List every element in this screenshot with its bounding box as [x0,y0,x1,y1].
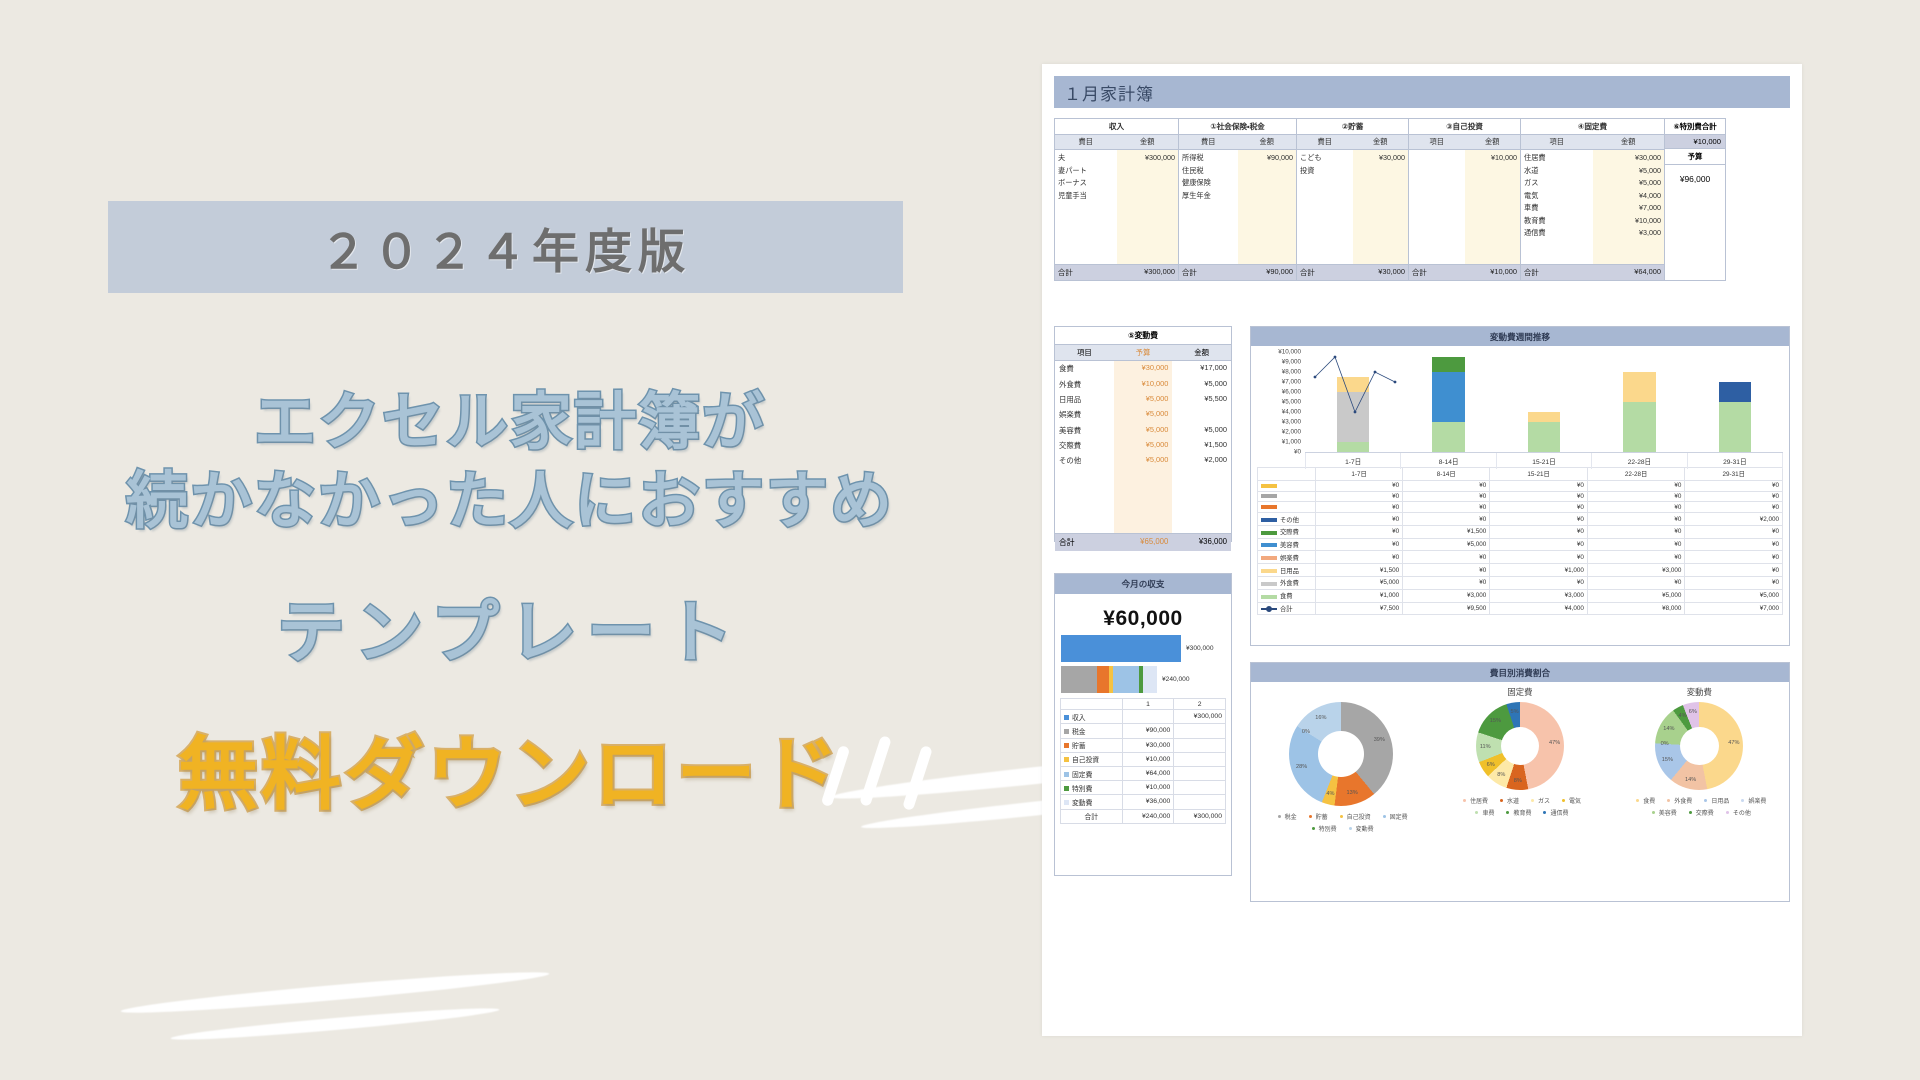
weekly-cell: ¥0 [1316,551,1403,564]
legend-dot-icon [1741,799,1744,802]
income-bar-row: ¥300,000 [1055,635,1231,662]
variable-item: 日用品 [1055,392,1114,407]
variable-budget: ¥5,000 [1114,423,1173,438]
budget-row-amount: ¥300,000 [1120,152,1176,165]
weekly-cell: ¥1,500 [1403,525,1490,538]
budget-table: ④固定費項目金額住居費水道ガス電気車費教育費通信費¥30,000¥5,000¥5… [1520,118,1664,281]
donut-legend-item: その他 [1722,808,1751,817]
workbook-title-label: １月家計簿 [1064,80,1154,105]
weekly-cell: ¥0 [1490,480,1588,491]
weekly-cell: ¥0 [1403,551,1490,564]
weekly-trend-title: 変動費週間推移 [1251,327,1789,346]
x-tick-label: 8-14日 [1401,453,1496,469]
y-tick-label: ¥6,000 [1282,389,1301,396]
budget-row-item: 所得税 [1182,152,1235,165]
weekly-cell: ¥5,000 [1316,577,1403,590]
budget-total-label: 合計 [1409,265,1465,280]
donut-legend-item: 特別費 [1308,824,1337,833]
donut-slice-label: 4% [1326,791,1334,797]
budget-total-label: 合計 [1055,265,1117,280]
donut-slice-label: 39% [1374,737,1385,743]
weekly-cell: ¥0 [1316,513,1403,526]
weekly-trend-card: 変動費週間推移 ¥0¥1,000¥2,000¥3,000¥4,000¥5,000… [1250,326,1790,646]
weekly-cell: ¥0 [1490,491,1588,502]
promo-panel: ２０２４年度版 エクセル家計簿が 続かなかった人におすすめ テンプレート 無料ダ… [0,0,1020,1080]
variable-amount: ¥1,500 [1172,438,1231,453]
legend-swatch-icon [1064,715,1069,720]
donut-legend-item: 車費 [1471,808,1494,817]
weekly-row-label [1258,502,1316,513]
donut-legend-item: 水道 [1496,796,1519,805]
balance-row-c2 [1174,781,1226,795]
weekly-cell: ¥0 [1587,502,1685,513]
weekly-y-axis: ¥0¥1,000¥2,000¥3,000¥4,000¥5,000¥6,000¥7… [1257,352,1303,452]
variable-budget: ¥10,000 [1114,376,1173,391]
legend-dot-icon [1383,815,1386,818]
y-tick-label: ¥7,000 [1282,379,1301,386]
legend-dot-icon [1278,815,1281,818]
weekly-cell: ¥0 [1685,538,1783,551]
budget-row-item: 教育費 [1524,215,1590,228]
balance-row-label: 変動費 [1061,795,1123,809]
weekly-cell: ¥0 [1403,480,1490,491]
col-header-amount: 金額 [1238,135,1297,149]
weekly-bars [1305,352,1783,452]
donut-legend-item: 通信費 [1539,808,1568,817]
legend-swatch-icon [1261,595,1277,599]
y-tick-label: ¥9,000 [1282,359,1301,366]
col-header-item: 項目 [1409,135,1465,149]
balance-row-c2: ¥300,000 [1174,710,1226,724]
budget-row-item: 投資 [1300,165,1350,178]
balance-row-label: 税金 [1061,724,1123,738]
weekly-cell: ¥1,000 [1316,589,1403,602]
budget-total-value: ¥30,000 [1353,265,1409,280]
expense-bar-segment [1061,666,1097,693]
legend-dot-icon [1340,815,1343,818]
donut-hole [1501,727,1540,766]
decor-brush-icon [170,1004,500,1045]
col-header-item: 費目 [1179,135,1238,149]
legend-dot-icon [1652,811,1655,814]
balance-row-label: 自己投資 [1061,752,1123,766]
category-share-title: 費目別消費割合 [1251,663,1789,682]
budget-row-item: こども [1300,152,1350,165]
variable-item: 美容費 [1055,423,1114,438]
weekly-bar-segment [1623,402,1656,452]
variable-row: 交際費¥5,000¥1,500 [1055,438,1231,453]
y-tick-label: ¥8,000 [1282,369,1301,376]
weekly-cell: ¥0 [1403,513,1490,526]
weekly-cell: ¥0 [1403,564,1490,577]
budget-row-item: 通信費 [1524,227,1590,240]
x-tick-label: 29-31日 [1688,453,1783,469]
weekly-cell: ¥0 [1587,538,1685,551]
balance-row-c2 [1174,724,1226,738]
variable-row: 娯楽費¥5,000 [1055,407,1231,422]
weekly-col-header: 1-7日 [1316,468,1403,481]
weekly-row-label [1258,480,1316,491]
weekly-bar-segment [1719,382,1752,402]
donut-legend-item: 固定費 [1379,812,1408,821]
weekly-cell: ¥0 [1316,480,1403,491]
monthly-balance-panel: 今月の収支 ¥60,000 ¥300,000 ¥240,000 12収入¥300… [1054,573,1232,876]
balance-row: 変動費¥36,000 [1061,795,1226,809]
donut-slice-label: 13% [1347,790,1358,796]
variable-row: 美容費¥5,000¥5,000 [1055,423,1231,438]
budget-row-item: ガス [1524,177,1590,190]
donut-slice-label: 28% [1296,764,1307,770]
variable-total-amount: ¥36,000 [1172,534,1231,551]
weekly-bar-segment [1337,377,1370,392]
variable-amount: ¥5,500 [1172,392,1231,407]
weekly-cell: ¥0 [1685,491,1783,502]
legend-swatch-icon [1064,786,1069,791]
weekly-col-header: 22-28日 [1587,468,1685,481]
weekly-row-label: 食費 [1258,589,1316,602]
weekly-data-row: ¥0¥0¥0¥0¥0 [1258,491,1783,502]
budget-total-value: ¥64,000 [1593,265,1665,280]
budget-row-item: 住民税 [1182,165,1235,178]
budget-row-amount: ¥5,000 [1596,177,1662,190]
budget-table-header: ④固定費 [1521,119,1664,135]
weekly-bar-column [1496,352,1592,452]
variable-item: その他 [1055,453,1114,468]
weekly-cell: ¥0 [1403,577,1490,590]
weekly-trend-plot: ¥0¥1,000¥2,000¥3,000¥4,000¥5,000¥6,000¥7… [1257,352,1783,465]
expense-bar [1061,666,1157,693]
variable-row: 外食費¥10,000¥5,000 [1055,376,1231,391]
weekly-row-label [1258,491,1316,502]
donut-slice-label: 11% [1480,744,1491,750]
donut-ring: 47%14%15%0%14%4%6% [1655,702,1743,790]
balance-row-c1: ¥64,000 [1122,766,1174,780]
donut-title: 固定費 [1507,686,1532,702]
legend-dot-icon [1636,799,1639,802]
headline-line-2: 続かなかった人におすすめ [0,450,1020,540]
budget-row-item: 厚生年金 [1182,190,1235,203]
legend-swatch-icon [1261,518,1277,522]
budget-table-header: ②貯蓄 [1297,119,1408,135]
weekly-bar-segment [1432,372,1465,422]
legend-swatch-icon [1261,531,1277,535]
x-tick-label: 22-28日 [1592,453,1687,469]
weekly-cell: ¥0 [1316,538,1403,551]
donut-slice-label: 15% [1490,718,1501,724]
weekly-cell: ¥0 [1316,502,1403,513]
donut-slice-label: 6% [1487,762,1495,768]
budget-total-label: 合計 [1179,265,1238,280]
legend-swatch-icon [1064,743,1069,748]
budget-row-amount: ¥10,000 [1468,152,1518,165]
legend-dot-icon [1667,799,1670,802]
donut-unit: 変動費47%14%15%0%14%4%6%食費外食費日用品娯楽費美容費交際費その… [1610,686,1789,898]
donut-legend-item: 日用品 [1700,796,1729,805]
budget-row-amount: ¥3,000 [1596,227,1662,240]
weekly-data-row: ¥0¥0¥0¥0¥0 [1258,480,1783,491]
donut-hole [1318,731,1364,777]
weekly-cell: ¥0 [1490,513,1588,526]
donut-slice-label: 8% [1514,778,1522,784]
weekly-x-labels: 1-7日8-14日15-21日22-28日29-31日 [1305,452,1783,469]
weekly-cell: ¥3,000 [1490,589,1588,602]
balance-row-c2 [1174,766,1226,780]
budget-row-amount: ¥5,000 [1596,165,1662,178]
weekly-cell: ¥0 [1403,491,1490,502]
donut-ring: 47%8%8%6%11%15%5% [1476,702,1564,790]
balance-total-label: 合計 [1061,809,1123,823]
donut-legend-item: 娯楽費 [1737,796,1766,805]
balance-row-c2 [1174,738,1226,752]
balance-row-c1: ¥36,000 [1122,795,1174,809]
budget-total-value: ¥300,000 [1117,265,1179,280]
weekly-row-label: 日用品 [1258,564,1316,577]
donut-slice-label: 14% [1663,726,1674,732]
donut-legend-item: 税金 [1274,812,1297,821]
weekly-cell: ¥0 [1685,480,1783,491]
budget-row-item: 電気 [1524,190,1590,203]
donut-unit: 固定費47%8%8%6%11%15%5%住居費水道ガス電気車費教育費通信費 [1430,686,1609,898]
balance-row: 固定費¥64,000 [1061,766,1226,780]
budget-table-header: ①社会保険・税金 [1179,119,1296,135]
variable-cost-table: ⑤変動費項目予算金額食費¥30,000¥17,000外食費¥10,000¥5,0… [1054,326,1232,542]
weekly-cell: ¥0 [1490,502,1588,513]
weekly-cell: ¥0 [1316,525,1403,538]
donut-slice-label: 5% [1510,709,1518,715]
variable-item: 交際費 [1055,438,1114,453]
spreadsheet-preview: １月家計簿 収入費目金額夫妻パートボーナス児童手当¥300,000合計¥300,… [1042,64,1802,1036]
variable-total-label: 合計 [1055,534,1114,551]
balance-row-c1: ¥30,000 [1122,738,1174,752]
weekly-data-row: 食費¥1,000¥3,000¥3,000¥5,000¥5,000 [1258,589,1783,602]
weekly-bar-stack [1719,382,1752,452]
special-value: ¥10,000 [1665,135,1725,149]
donut-legend-item: 外食費 [1663,796,1692,805]
col-header-item: 項目 [1055,345,1114,360]
budget-table: ③自己投資項目金額 ¥10,000合計¥10,000 [1408,118,1520,281]
income-bar [1061,635,1181,662]
donut-legend-item: 電気 [1558,796,1581,805]
workbook-title: １月家計簿 [1054,76,1790,108]
x-tick-label: 1-7日 [1305,453,1401,469]
variable-budget: ¥5,000 [1114,392,1173,407]
weekly-row-label: 美容費 [1258,538,1316,551]
donut-slice-label: 15% [1662,757,1673,763]
expense-bar-segment [1097,666,1109,693]
legend-swatch-icon [1261,484,1277,488]
legend-dot-icon [1562,799,1565,802]
col-header-amount: 金額 [1353,135,1409,149]
donut-legend-item: 教育費 [1502,808,1531,817]
expense-bar-row: ¥240,000 [1055,666,1231,693]
legend-swatch-icon [1261,582,1277,586]
weekly-cell: ¥0 [1685,525,1783,538]
budget-row-amount: ¥10,000 [1596,215,1662,228]
y-tick-label: ¥3,000 [1282,419,1301,426]
balance-col-2: 2 [1174,699,1226,710]
weekly-cell: ¥5,000 [1587,589,1685,602]
col-header-amount: 金額 [1172,345,1231,360]
weekly-bar-stack [1432,357,1465,452]
income-bar-label: ¥300,000 [1186,645,1214,652]
budget-row-item: 夫 [1058,152,1114,165]
donut-slice-label: 14% [1685,777,1696,783]
col-header-budget: 予算 [1114,345,1173,360]
weekly-col-header: 29-31日 [1685,468,1783,481]
year-badge: ２０２４年度版 [108,201,903,293]
weekly-col-header: 8-14日 [1403,468,1490,481]
weekly-total-cell: ¥7,500 [1316,602,1403,615]
weekly-bar-segment [1528,422,1561,452]
legend-dot-icon [1543,811,1546,814]
y-tick-label: ¥4,000 [1282,409,1301,416]
weekly-row-label: 娯楽費 [1258,551,1316,564]
budget-row-item: 妻パート [1058,165,1114,178]
year-badge-label: ２０２４年度版 [320,213,691,282]
budget-table: ①社会保険・税金費目金額所得税住民税健康保険厚生年金¥90,000合計¥90,0… [1178,118,1296,281]
weekly-data-row: 交際費¥0¥1,500¥0¥0¥0 [1258,525,1783,538]
budget-table-header: ③自己投資 [1409,119,1520,135]
balance-row-c1 [1122,710,1174,724]
donut-slice-label: 47% [1728,740,1739,746]
weekly-row-label: 外食費 [1258,577,1316,590]
budget-total-value: ¥90,000 [1238,265,1297,280]
variable-amount: ¥17,000 [1172,361,1231,376]
y-tick-label: ¥0 [1294,449,1301,456]
variable-amount: ¥5,000 [1172,376,1231,391]
legend-swatch-icon [1064,729,1069,734]
weekly-cell: ¥0 [1587,513,1685,526]
weekly-bar-column [1401,352,1497,452]
balance-row-label: 貯蓄 [1061,738,1123,752]
budget-tables: 収入費目金額夫妻パートボーナス児童手当¥300,000合計¥300,000①社会… [1054,118,1790,281]
legend-dot-icon [1689,811,1692,814]
weekly-cell: ¥0 [1490,551,1588,564]
weekly-cell: ¥0 [1403,502,1490,513]
col-header-amount: 金額 [1465,135,1521,149]
donut-legend-item: 貯蓄 [1305,812,1328,821]
category-share-card: 費目別消費割合 39%13%4%28%0%16%税金貯蓄自己投資固定費特別費変動… [1250,662,1790,902]
weekly-cell: ¥0 [1587,551,1685,564]
weekly-cell: ¥1,000 [1490,564,1588,577]
weekly-col-header: 15-21日 [1490,468,1588,481]
legend-dot-icon [1312,827,1315,830]
weekly-cell: ¥2,000 [1685,513,1783,526]
legend-dot-icon [1506,811,1509,814]
weekly-cell: ¥0 [1587,480,1685,491]
balance-row: 貯蓄¥30,000 [1061,738,1226,752]
donut-legend: 食費外食費日用品娯楽費美容費交際費その他 [1619,794,1779,818]
balance-row: 特別費¥10,000 [1061,781,1226,795]
balance-row: 収入¥300,000 [1061,710,1226,724]
legend-swatch-icon [1261,569,1277,573]
donut-legend-item: 変動費 [1345,824,1374,833]
weekly-cell: ¥0 [1587,577,1685,590]
legend-dot-icon [1500,799,1503,802]
special-header: ⑥特別費合計 [1665,119,1725,135]
weekly-cell: ¥0 [1587,491,1685,502]
budget-row-item: 住居費 [1524,152,1590,165]
balance-row-label: 固定費 [1061,766,1123,780]
weekly-cell: ¥0 [1490,538,1588,551]
variable-item: 外食費 [1055,376,1114,391]
legend-dot-icon [1349,827,1352,830]
weekly-bar-segment [1337,442,1370,452]
donut-slice-label: 47% [1549,740,1560,746]
weekly-cell: ¥5,000 [1685,589,1783,602]
legend-swatch-icon [1064,772,1069,777]
balance-row: 自己投資¥10,000 [1061,752,1226,766]
budget-row-item: 健康保険 [1182,177,1235,190]
variable-item: 娯楽費 [1055,407,1114,422]
weekly-cell: ¥0 [1685,564,1783,577]
budget-row-item: 水道 [1524,165,1590,178]
weekly-bar-stack [1623,372,1656,452]
variable-row: その他¥5,000¥2,000 [1055,453,1231,468]
variable-item: 食費 [1055,361,1114,376]
variable-table-header: ⑤変動費 [1055,327,1231,345]
budget-total-label: 合計 [1521,265,1593,280]
headline-line-3: テンプレート [0,577,1020,676]
weekly-cell: ¥0 [1685,502,1783,513]
weekly-data-row: 美容費¥0¥5,000¥0¥0¥0 [1258,538,1783,551]
budget-total-label: 合計 [1297,265,1353,280]
weekly-cell: ¥0 [1685,577,1783,590]
weekly-data-row: 日用品¥1,500¥0¥1,000¥3,000¥0 [1258,564,1783,577]
special-budget-value: ¥96,000 [1665,165,1725,193]
donut-ring: 39%13%4%28%0%16% [1289,702,1393,806]
variable-amount [1172,407,1231,422]
donut-legend-item: 自己投資 [1336,812,1371,821]
variable-total-budget: ¥65,000 [1114,534,1173,551]
balance-row-c1: ¥10,000 [1122,781,1174,795]
variable-budget: ¥5,000 [1114,453,1173,468]
budget-row-amount: ¥90,000 [1241,152,1294,165]
weekly-bar-column [1305,352,1401,452]
donut-slice-label: 16% [1315,715,1326,721]
weekly-cell: ¥0 [1587,525,1685,538]
variable-row: 日用品¥5,000¥5,500 [1055,392,1231,407]
balance-total-c2: ¥300,000 [1174,809,1226,823]
legend-swatch-icon [1064,757,1069,762]
weekly-bar-column [1592,352,1688,452]
y-tick-label: ¥5,000 [1282,399,1301,406]
weekly-cell: ¥0 [1490,577,1588,590]
col-header-item: 費目 [1055,135,1117,149]
budget-row-amount: ¥30,000 [1596,152,1662,165]
col-header-amount: 金額 [1117,135,1179,149]
weekly-cell: ¥3,000 [1587,564,1685,577]
expense-bar-segment [1143,666,1157,693]
weekly-header-row: 1-7日8-14日15-21日22-28日29-31日 [1258,468,1783,481]
weekly-total-cell: ¥9,500 [1403,602,1490,615]
col-header-item: 費目 [1297,135,1353,149]
variable-budget: ¥30,000 [1114,361,1173,376]
special-budget-label: 予算 [1665,149,1725,165]
balance-row-c2 [1174,795,1226,809]
balance-total-c1: ¥240,000 [1122,809,1174,823]
donut-hole [1680,727,1719,766]
legend-swatch-icon [1261,543,1277,547]
weekly-total-row: 合計¥7,500¥9,500¥4,000¥8,000¥7,000 [1258,602,1783,615]
legend-swatch-icon [1261,556,1277,560]
monthly-balance-amount: ¥60,000 [1055,594,1231,635]
weekly-cell: ¥5,000 [1403,538,1490,551]
weekly-bar-segment [1719,402,1752,452]
budget-table: ②貯蓄費目金額こども投資¥30,000合計¥30,000 [1296,118,1408,281]
expense-bar-label: ¥240,000 [1162,676,1190,683]
donut-legend-item: 交際費 [1685,808,1714,817]
